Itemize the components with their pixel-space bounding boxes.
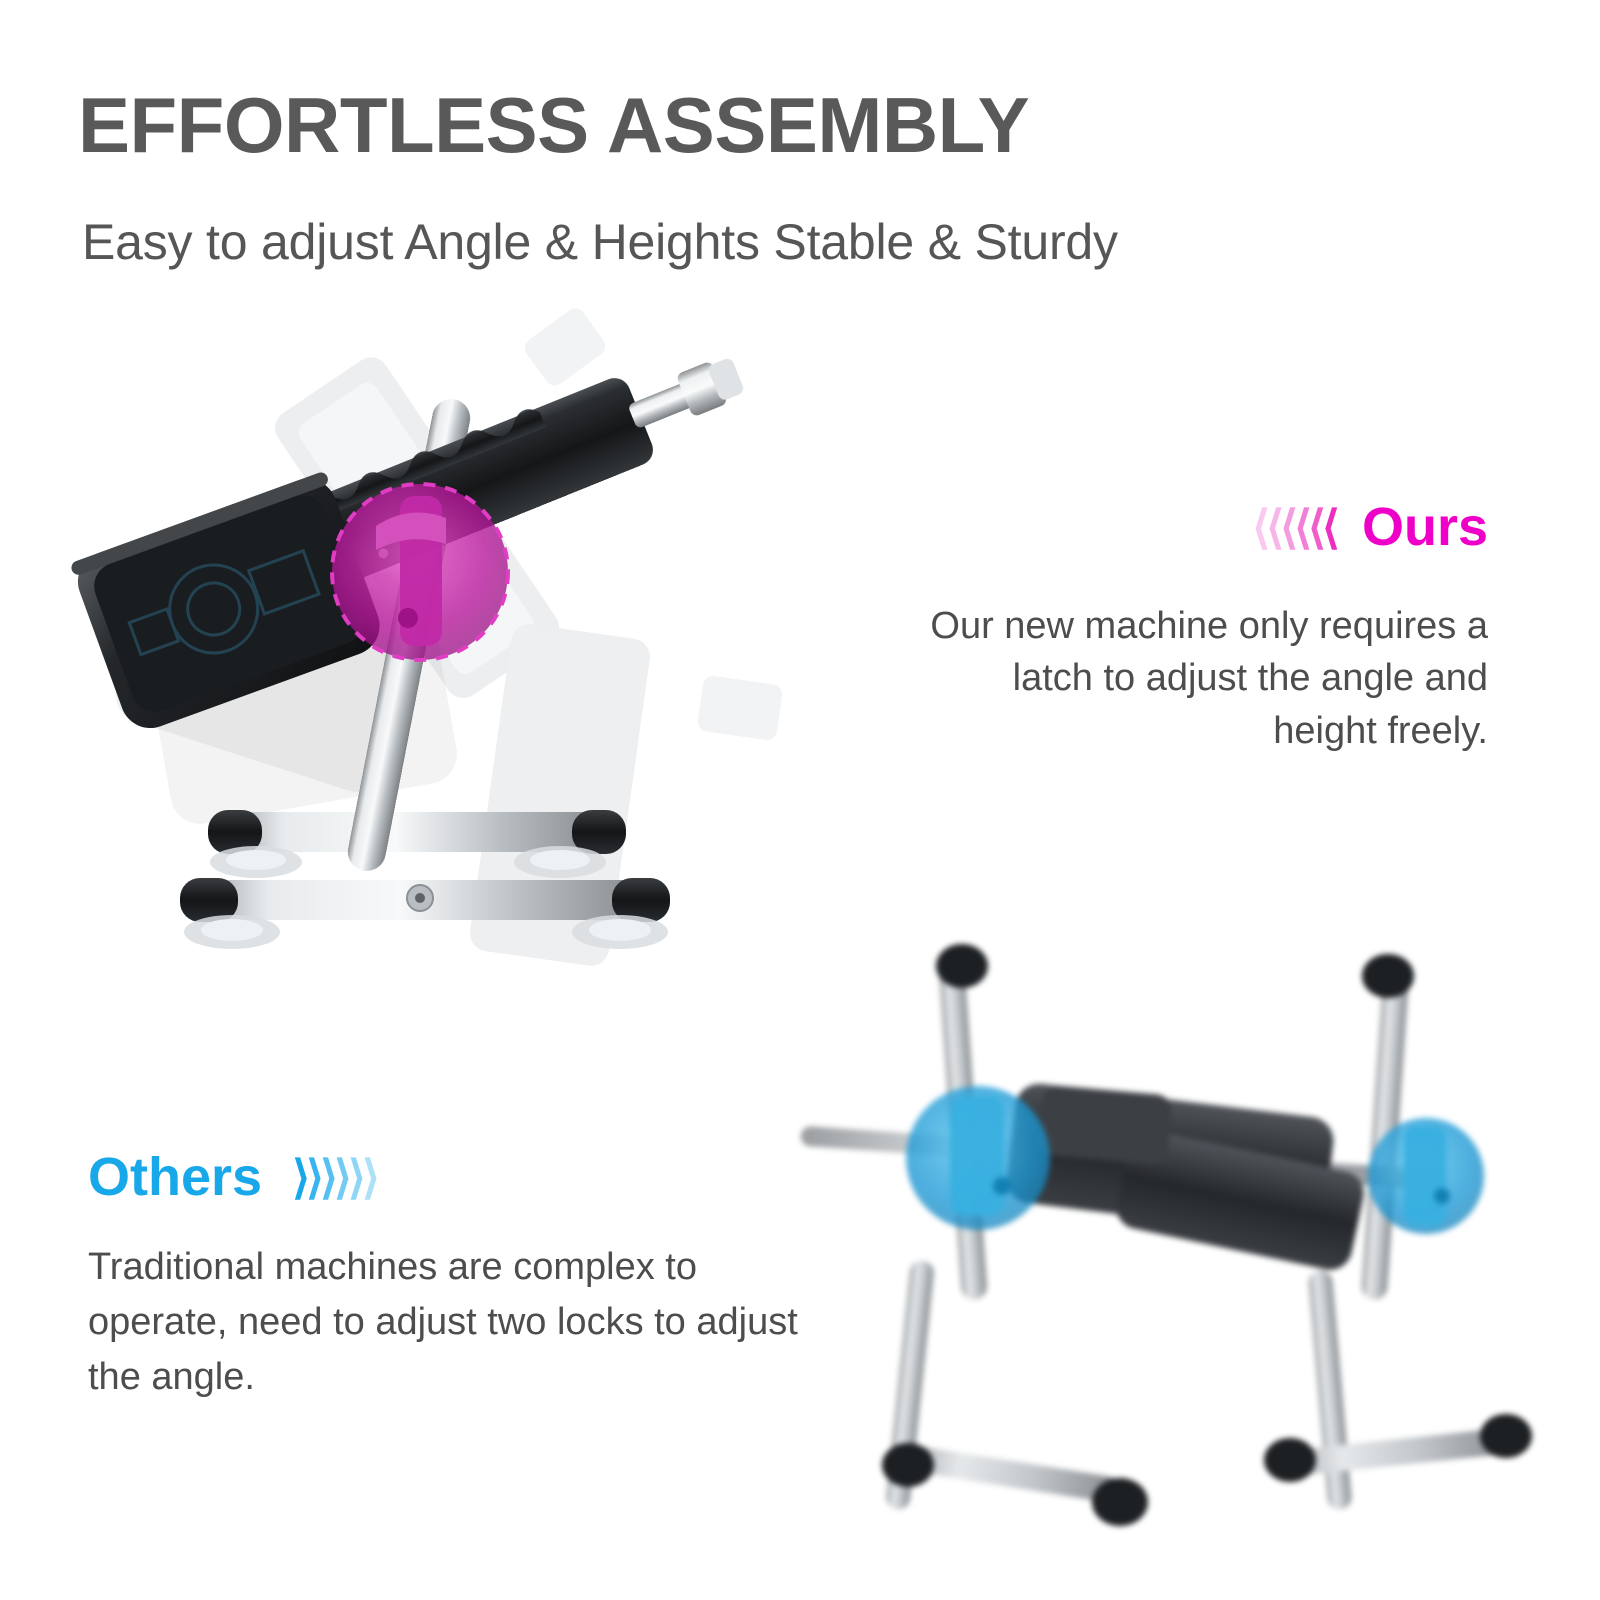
others-pad	[1004, 1081, 1368, 1274]
others-label-row: Others ⟩⟩⟩⟩⟩⟩	[88, 1150, 376, 1204]
ours-label: Ours	[1362, 500, 1488, 554]
ours-product-photo	[60, 300, 800, 1040]
others-description: Traditional machines are complex to oper…	[88, 1240, 808, 1405]
chevron-left-icon: ⟨⟨⟨⟨⟨⟨	[1252, 504, 1336, 550]
others-label: Others	[88, 1150, 262, 1204]
page-subtitle: Easy to adjust Angle & Heights Stable & …	[82, 212, 1118, 272]
page-title: EFFORTLESS ASSEMBLY	[78, 86, 1029, 164]
lock-highlight-left	[906, 1086, 1050, 1230]
chevron-right-icon: ⟩⟩⟩⟩⟩⟩	[292, 1154, 376, 1200]
others-product-photo	[790, 900, 1550, 1590]
ours-description: Our new machine only requires a latch to…	[928, 600, 1488, 757]
lock-highlight-right	[1368, 1118, 1484, 1234]
ours-label-row: ⟨⟨⟨⟨⟨⟨ Ours	[1252, 500, 1488, 554]
latch-highlight	[332, 484, 508, 660]
